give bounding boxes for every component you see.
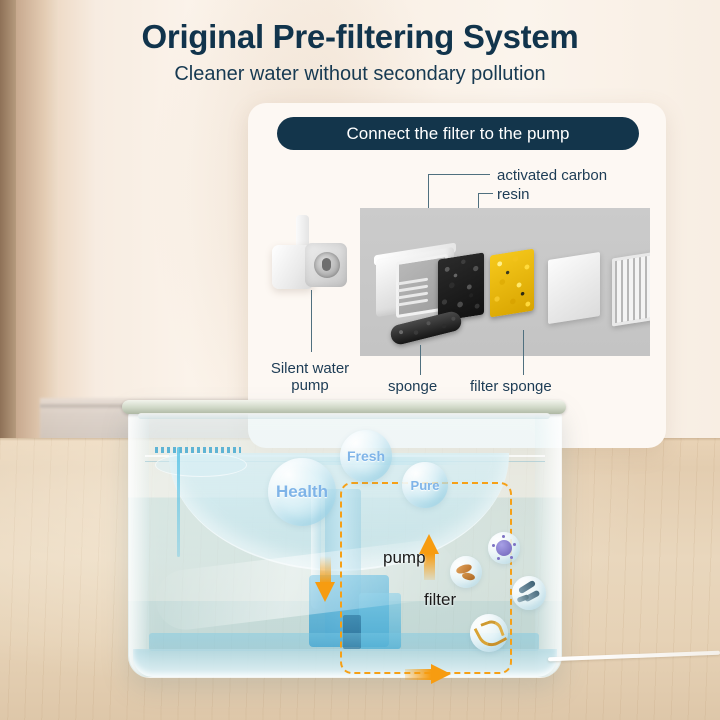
page-title: Original Pre-filtering System: [0, 18, 720, 56]
exploded-view-panel: [360, 208, 650, 356]
flow-label-filter: filter: [424, 590, 456, 610]
callout-activated-carbon: activated carbon: [497, 167, 607, 185]
virus-spike: [502, 535, 505, 538]
callout-silent-water-pump: Silent water pump: [262, 360, 358, 394]
filter-sponge-pad: [548, 252, 600, 324]
arrow-shaft: [320, 556, 331, 584]
leader-line-filter-sponge: [523, 330, 524, 375]
leader-line-pump: [311, 290, 312, 352]
contaminant-virus-icon: [488, 532, 520, 564]
leader-line-sponge: [420, 345, 421, 375]
flow-arrow-right-icon: [405, 665, 451, 684]
tank-rim: [122, 400, 566, 414]
virus-core: [496, 540, 512, 556]
page-subtitle: Cleaner water without secondary pollutio…: [0, 63, 720, 86]
tank-left-wall: [129, 411, 149, 677]
virus-spike: [497, 557, 500, 560]
virus-spike: [510, 556, 513, 559]
activated-carbon-block: [438, 252, 484, 321]
bubble-fresh: Fresh: [340, 430, 392, 482]
tank-rim-inner: [138, 413, 550, 419]
leader-line-carbon-horizontal: [428, 174, 490, 175]
resin-block: [490, 249, 534, 318]
infographic-canvas: Original Pre-filtering System Cleaner wa…: [0, 0, 720, 720]
flow-arrow-down-icon: [316, 556, 335, 604]
bubble-pure: Pure: [402, 462, 448, 508]
banner-pill: Connect the filter to the pump: [277, 117, 639, 150]
arrow-head: [315, 582, 335, 602]
callout-filter-sponge: filter sponge: [470, 378, 552, 396]
contaminant-hair-icon: [470, 614, 508, 652]
callout-resin: resin: [497, 186, 530, 204]
virus-spike: [492, 544, 495, 547]
arrow-head: [431, 664, 451, 684]
float-indicator: [155, 453, 247, 477]
arrow-shaft: [405, 669, 431, 680]
bubble-health: Health: [268, 458, 336, 526]
callout-sponge: sponge: [388, 378, 437, 396]
power-cord-line: [548, 651, 720, 662]
contaminant-bacteria-icon: [512, 576, 546, 610]
flow-label-pump: pump: [383, 548, 426, 568]
leader-line-resin-horizontal: [478, 193, 493, 194]
dirt-particle: [461, 572, 475, 582]
grille-cover: [612, 249, 650, 326]
pump-intake-hole: [322, 258, 331, 271]
power-cord: [548, 648, 720, 664]
intake-straw: [177, 447, 180, 557]
grille-bars: [615, 253, 650, 323]
contaminant-dirt-icon: [450, 556, 482, 588]
virus-spike: [513, 543, 516, 546]
